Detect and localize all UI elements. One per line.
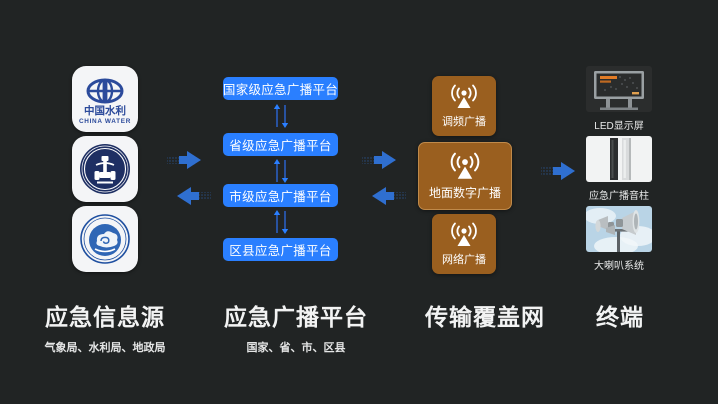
terminal-label: 大喇叭系统 [586,257,652,272]
led-display-svg [586,66,652,112]
vertical-bidirectional-arrow-icon [270,158,292,184]
platform-link-national-provincial [270,103,292,129]
network-box-label: 地面数字广播 [429,184,501,201]
broadcast-tower-icon [448,152,482,181]
source-logo-china-meteorological-administration [72,206,138,272]
section-caption-network: 传输覆盖网 [390,298,580,339]
source-logo-china-water: 中国水利 CHINA WATER [72,66,138,132]
terminal-horn-loudspeaker[interactable]: 大喇叭系统 [586,206,652,272]
speaker-column-icon [586,136,652,182]
platform-chip-city[interactable]: 市级应急广播平台 [223,184,338,207]
section-subtitle: 国家、省、市、区县 [196,339,396,355]
vertical-bidirectional-arrow-icon [270,103,292,129]
terminal-label: LED显示屏 [586,117,652,132]
broadcast-tower-icon [449,84,479,110]
network-box-label: 网络广播 [442,251,486,267]
section-title: 应急信息源 [0,298,210,332]
network-box-internet-broadcast[interactable]: 网络广播 [432,214,496,274]
right-arrow-icon [537,158,589,188]
diagram-canvas: 中国水利 CHINA WATER [0,0,718,404]
bidirectional-arrow-icon [163,148,215,208]
china-water-en-text: CHINA WATER [79,118,131,125]
section-caption-sources: 应急信息源 气象局、水利局、地政局 [0,298,210,355]
terminal-label: 应急广播音柱 [586,187,652,202]
network-box-fm-broadcast[interactable]: 调频广播 [432,76,496,136]
vertical-bidirectional-arrow-icon [270,209,292,235]
china-water-cn-text: 中国水利 [84,104,126,117]
broadcast-tower-icon [449,222,479,248]
platform-chip-provincial[interactable]: 省级应急广播平台 [223,133,338,156]
bidirectional-arrow-icon [358,148,410,208]
connector-sources-to-platforms [163,148,215,208]
terminal-led-display[interactable]: LED显示屏 [586,66,652,132]
section-title: 应急广播平台 [196,298,396,332]
section-subtitle: 气象局、水利局、地政局 [0,339,210,355]
terminal-speaker-column[interactable]: 应急广播音柱 [586,136,652,202]
platform-chip-district[interactable]: 区县应急广播平台 [223,238,338,261]
source-logo-china-earthquake-administration [72,136,138,202]
platform-link-city-district [270,209,292,235]
china-water-logo-icon: 中国水利 CHINA WATER [76,70,134,128]
network-box-terrestrial-digital-broadcast[interactable]: 地面数字广播 [418,142,512,210]
horn-loudspeaker-svg [586,206,652,252]
connector-network-to-terminals [537,158,589,188]
platform-chip-national[interactable]: 国家级应急广播平台 [223,77,338,100]
china-meteorological-administration-logo-icon [77,211,133,267]
platform-link-provincial-city [270,158,292,184]
section-caption-platforms: 应急广播平台 国家、省、市、区县 [196,298,396,355]
china-earthquake-administration-logo-icon [77,141,133,197]
connector-platforms-to-network [358,148,410,208]
section-caption-terminals: 终端 [560,298,680,339]
section-title: 传输覆盖网 [390,298,580,332]
network-box-label: 调频广播 [442,113,486,129]
section-title: 终端 [560,298,680,332]
speaker-column-svg [586,136,652,182]
led-display-icon [586,66,652,112]
horn-loudspeaker-icon [586,206,652,252]
